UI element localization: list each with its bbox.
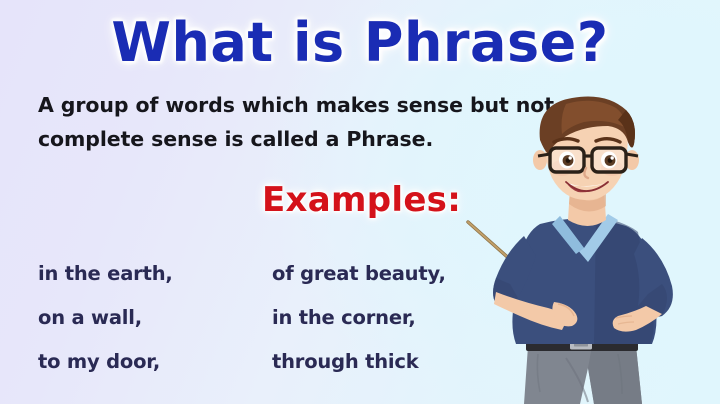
example-item: in the earth,: [38, 252, 173, 296]
definition-block: A group of words which makes sense but n…: [38, 88, 508, 156]
definition-line: A group of words which makes sense but n…: [38, 88, 508, 122]
teacher-character-illustration: [466, 96, 720, 404]
page-title: What is Phrase?: [111, 12, 608, 74]
examples-right-column: of great beauty, in the corner, through …: [272, 252, 446, 384]
example-item: in the corner,: [272, 296, 446, 340]
examples-heading: Examples:: [262, 180, 461, 220]
example-item: through thick: [272, 340, 446, 384]
title-container: What is Phrase?: [0, 12, 720, 74]
definition-line: complete sense is called a Phrase.: [38, 122, 508, 156]
examples-columns: in the earth, on a wall, to my door, of …: [0, 252, 520, 382]
examples-left-column: in the earth, on a wall, to my door,: [38, 252, 173, 384]
example-item: of great beauty,: [272, 252, 446, 296]
example-item: on a wall,: [38, 296, 173, 340]
character-pants: [524, 346, 642, 404]
example-item: to my door,: [38, 340, 173, 384]
infographic-poster: What is Phrase? A group of words which m…: [0, 0, 720, 404]
